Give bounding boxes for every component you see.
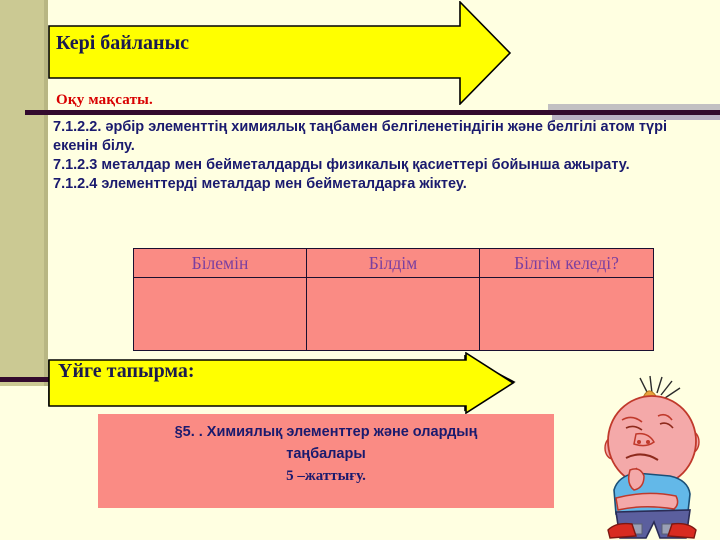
homework-line-2: таңбалары xyxy=(98,443,554,465)
table-header-cell-learned: Білдім xyxy=(307,249,480,278)
goal-heading: Оқу мақсаты. xyxy=(56,92,153,109)
slide-canvas: Кері байланыс Оқу мақсаты. 7.1.2.2. әрбі… xyxy=(0,0,720,540)
table-header-row: Білемін Білдім Білгім келеді? xyxy=(134,249,654,278)
kwl-table: Білемін Білдім Білгім келеді? xyxy=(133,248,654,351)
objective-item: 7.1.2.4 элементтерді металдар мен беймет… xyxy=(53,175,673,194)
objective-item: 7.1.2.2. әрбір элементтің химиялық таңба… xyxy=(53,118,673,156)
bottom-horizontal-rule xyxy=(0,377,49,382)
table-cell-know[interactable] xyxy=(134,278,307,351)
homework-line-3: 5 –жаттығу. xyxy=(98,465,554,487)
table-header-cell-want: Білгім келеді? xyxy=(480,249,654,278)
table-row[interactable] xyxy=(134,278,654,351)
homework-text-block: §5. . Химиялық элементтер және олардың т… xyxy=(98,421,554,487)
objective-item: 7.1.2.3 металдар мен бейметалдарды физик… xyxy=(53,156,673,175)
homework-arrow-label: Үйге тапырма: xyxy=(58,360,195,383)
thinking-boy-illustration xyxy=(596,372,720,540)
feedback-arrow-label: Кері байланыс xyxy=(56,32,189,55)
left-decorative-band xyxy=(0,0,48,386)
homework-line-1: §5. . Химиялық элементтер және олардың xyxy=(98,421,554,443)
table-header-cell-know: Білемін xyxy=(134,249,307,278)
table-cell-learned[interactable] xyxy=(307,278,480,351)
learning-objectives-block: 7.1.2.2. әрбір элементтің химиялық таңба… xyxy=(53,118,673,194)
table-cell-want[interactable] xyxy=(480,278,654,351)
top-horizontal-rule xyxy=(25,110,720,115)
